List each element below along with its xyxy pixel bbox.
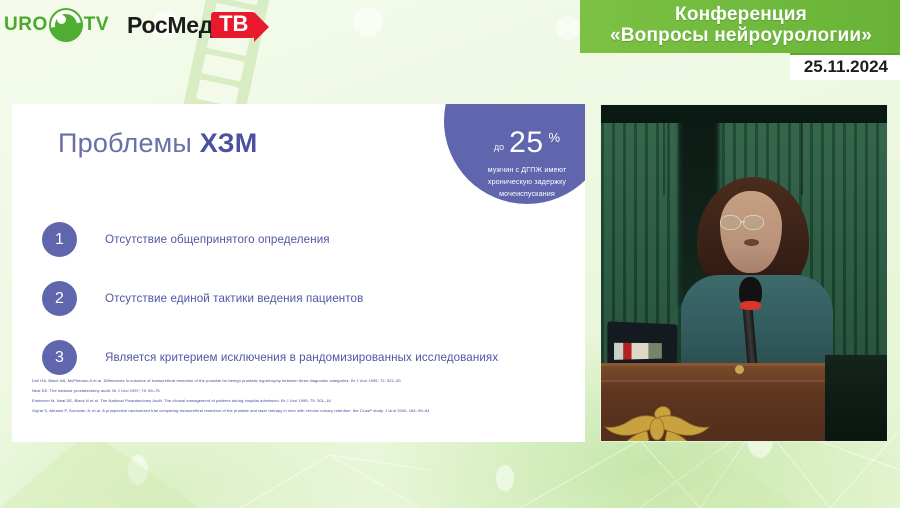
glasses-right-lens-icon bbox=[743, 215, 764, 230]
reference-list: Doll HA, Black NA, McPherson A et al. Di… bbox=[32, 376, 572, 417]
speaker-video-panel[interactable] bbox=[600, 104, 888, 442]
urotv-leaf-circle-logo-icon bbox=[49, 8, 83, 42]
rosmed-text-label: РосМед bbox=[127, 12, 213, 39]
conference-title-line1: Конференция bbox=[592, 4, 890, 25]
rosmed-play-badge-icon: ТВ bbox=[211, 12, 255, 38]
video-top-shadow bbox=[601, 105, 887, 123]
conference-date-badge: 25.11.2024 bbox=[790, 53, 900, 80]
video-right-shadow bbox=[825, 355, 887, 442]
urotv-prefix-label: URO bbox=[4, 14, 48, 36]
podium-knob bbox=[735, 365, 744, 374]
list-item: 3 Является критерием исключения в рандом… bbox=[42, 340, 512, 375]
logo-group: URO TV РосМед ТВ bbox=[4, 8, 255, 42]
problem-list: 1 Отсутствие общепринятого определения 2… bbox=[42, 222, 512, 399]
list-item: 1 Отсутствие общепринятого определения bbox=[42, 222, 512, 257]
list-item-label: Отсутствие единой тактики ведения пациен… bbox=[105, 292, 363, 305]
reference-line: Gujral S, Abrams P, Donovan JL et al. A … bbox=[32, 406, 572, 416]
stat-value: 25 bbox=[509, 128, 543, 158]
conference-date-wrapper: 25.11.2024 bbox=[580, 53, 900, 80]
reference-line: Doll HA, Black NA, McPherson A et al. Di… bbox=[32, 376, 572, 386]
podium-seam bbox=[663, 121, 665, 195]
top-bar: URO TV РосМед ТВ Конференция «Вопросы не… bbox=[0, 0, 900, 96]
speaker-mouth bbox=[744, 239, 759, 246]
podium-seam bbox=[801, 121, 803, 195]
slide-title-bold: ХЗМ bbox=[200, 128, 258, 158]
conference-title-line2: «Вопросы нейроурологии» bbox=[592, 25, 890, 46]
stat-unit-label: % bbox=[549, 130, 561, 145]
stat-badge: до 25 % мужчин с ДГПЖ имеют хроническую … bbox=[444, 104, 585, 204]
list-item: 2 Отсутствие единой тактики ведения паци… bbox=[42, 281, 512, 316]
reference-line: Emberton M, Neal DE, Black N et al. The … bbox=[32, 396, 572, 406]
list-item-number: 1 bbox=[42, 222, 77, 257]
glasses-bridge-icon bbox=[740, 221, 745, 223]
glasses-left-lens-icon bbox=[720, 215, 741, 230]
list-item-label: Является критерием исключения в рандомиз… bbox=[105, 351, 498, 364]
rosmed-tv-logo[interactable]: РосМед ТВ bbox=[127, 12, 255, 39]
speaker-figure bbox=[687, 177, 823, 349]
urotv-suffix-label: TV bbox=[84, 14, 109, 36]
list-item-label: Отсутствие общепринятого определения bbox=[105, 233, 330, 246]
urotv-logo[interactable]: URO TV bbox=[4, 8, 109, 42]
list-item-number: 3 bbox=[42, 340, 77, 375]
presentation-slide[interactable]: Проблемы ХЗМ до 25 % мужчин с ДГПЖ имеют… bbox=[12, 104, 585, 442]
stat-prefix-label: до bbox=[494, 142, 504, 152]
slide-title-plain: Проблемы bbox=[58, 128, 200, 158]
slide-title: Проблемы ХЗМ bbox=[58, 128, 257, 159]
double-headed-eagle-emblem-icon bbox=[600, 403, 725, 442]
list-item-number: 2 bbox=[42, 281, 77, 316]
reference-line: Neal DE. The national prostatectomy audi… bbox=[32, 386, 572, 396]
conference-title-block: Конференция «Вопросы нейроурологии» bbox=[580, 0, 900, 53]
conference-banner: Конференция «Вопросы нейроурологии» 25.1… bbox=[580, 0, 900, 80]
stat-description: мужчин с ДГПЖ имеют хроническую задержку… bbox=[468, 164, 585, 200]
stat-value-row: до 25 % bbox=[494, 128, 560, 158]
microphone-ring-icon bbox=[740, 301, 761, 310]
